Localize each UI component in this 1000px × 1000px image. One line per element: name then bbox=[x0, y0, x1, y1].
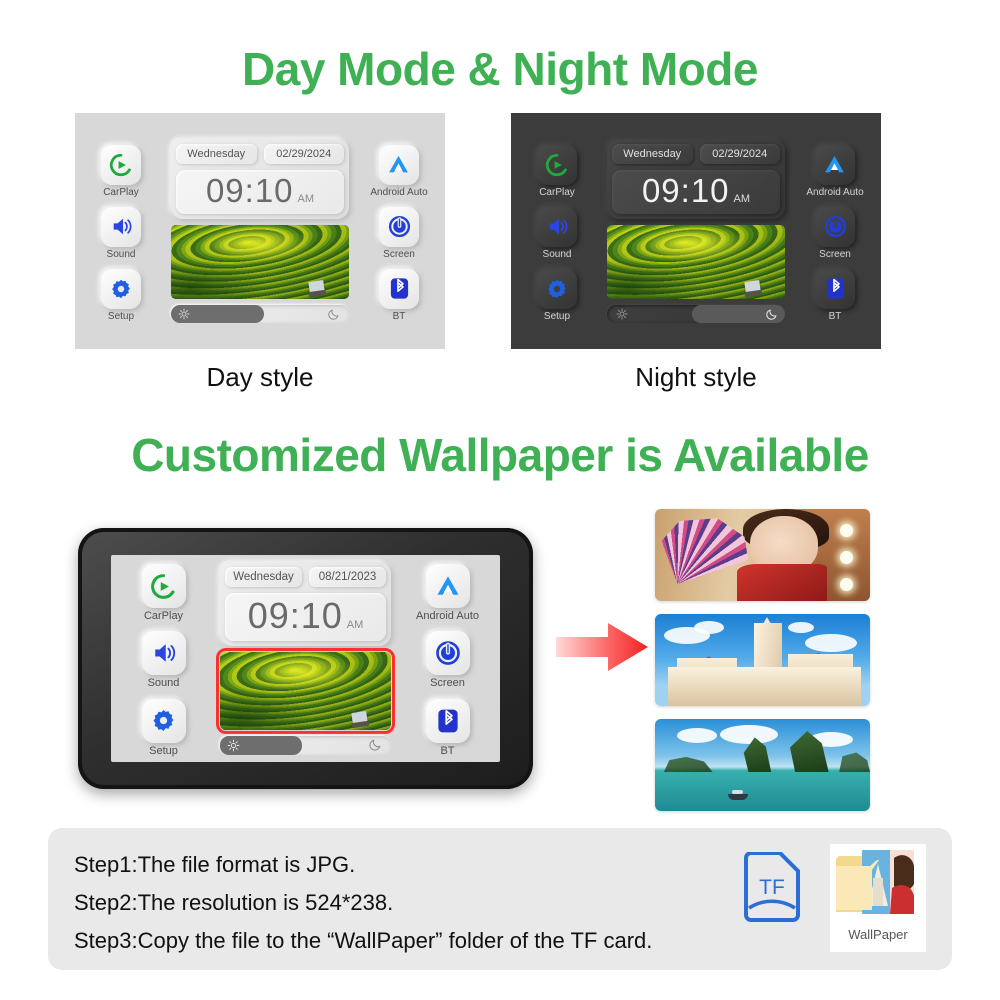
tf-card-icon: TF bbox=[742, 852, 802, 926]
day-mode-preview: CarPlay Sound bbox=[75, 113, 445, 349]
meridiem-device: AM bbox=[347, 619, 364, 631]
android-auto-button-night[interactable]: Android Auto bbox=[806, 145, 863, 198]
android-auto-label: Android Auto bbox=[370, 187, 427, 198]
carplay-label: CarPlay bbox=[103, 187, 139, 198]
carplay-icon bbox=[537, 145, 577, 185]
brightness-slider-night[interactable] bbox=[607, 305, 785, 323]
brightness-slider-device[interactable] bbox=[220, 736, 391, 755]
bt-button-day[interactable]: BT bbox=[379, 269, 419, 322]
center-column-day: Wednesday 02/29/2024 09:10 AM bbox=[167, 139, 353, 323]
setup-label: Setup bbox=[544, 311, 570, 322]
time-display-night: 09:10 bbox=[642, 172, 730, 210]
clock-panel-night: Wednesday 02/29/2024 09:10 AM bbox=[607, 139, 785, 219]
moon-icon bbox=[368, 738, 382, 752]
setup-label: Setup bbox=[108, 311, 134, 322]
bt-label: BT bbox=[440, 745, 454, 757]
setup-button-day[interactable]: Setup bbox=[101, 269, 141, 322]
head-unit-ui-device: CarPlay Sound bbox=[111, 555, 500, 762]
setup-button-device[interactable]: Setup bbox=[142, 699, 186, 757]
night-mode-preview: CarPlay Sound bbox=[511, 113, 881, 349]
wallpaper-thumbnail-list bbox=[655, 509, 870, 824]
bt-button-night[interactable]: BT bbox=[815, 269, 855, 322]
gear-icon bbox=[142, 699, 186, 743]
right-button-column-day: Android Auto Screen bbox=[353, 113, 445, 349]
speaker-icon bbox=[537, 207, 577, 247]
device-screen: CarPlay Sound bbox=[111, 555, 500, 762]
colonial-building-thumbnail[interactable] bbox=[655, 614, 870, 706]
sound-button-day[interactable]: Sound bbox=[101, 207, 141, 260]
screen-label: Screen bbox=[383, 249, 415, 260]
sun-end-night bbox=[616, 305, 628, 323]
right-arrow-icon bbox=[556, 621, 648, 673]
bluetooth-icon bbox=[815, 269, 855, 309]
halong-bay-thumbnail[interactable] bbox=[655, 719, 870, 811]
head-unit-ui-night: CarPlay Sound bbox=[511, 113, 881, 349]
carplay-label: CarPlay bbox=[539, 187, 575, 198]
center-column-device: Wednesday 08/21/2023 09:10 AM bbox=[216, 562, 395, 755]
carplay-button-day[interactable]: CarPlay bbox=[101, 145, 141, 198]
time-display-device: 09:10 bbox=[248, 595, 343, 637]
night-style-caption: Night style bbox=[511, 362, 881, 393]
right-button-column-night: Android Auto Screen bbox=[789, 113, 881, 349]
power-icon bbox=[426, 631, 470, 675]
head-unit-ui-day: CarPlay Sound bbox=[75, 113, 445, 349]
carplay-icon bbox=[101, 145, 141, 185]
woman-with-fan-thumbnail[interactable] bbox=[655, 509, 870, 601]
screen-label: Screen bbox=[430, 677, 465, 689]
setup-button-night[interactable]: Setup bbox=[537, 269, 577, 322]
product-infographic-page: Day Mode & Night Mode CarPlay bbox=[0, 0, 1000, 1000]
bluetooth-icon bbox=[379, 269, 419, 309]
sound-label: Sound bbox=[543, 249, 572, 260]
weekday-display-night: Wednesday bbox=[612, 144, 693, 164]
sun-icon bbox=[227, 739, 240, 752]
left-button-column-day: CarPlay Sound bbox=[75, 113, 167, 349]
carplay-icon bbox=[142, 564, 186, 608]
screen-label: Screen bbox=[819, 249, 851, 260]
gear-icon bbox=[101, 269, 141, 309]
bt-button-device[interactable]: BT bbox=[426, 699, 470, 757]
wallpaper-folder-icon[interactable]: WallPaper bbox=[830, 844, 926, 952]
day-style-caption: Day style bbox=[75, 362, 445, 393]
power-icon bbox=[815, 207, 855, 247]
screen-button-day[interactable]: Screen bbox=[379, 207, 419, 260]
setup-label: Setup bbox=[149, 745, 178, 757]
tf-card-label: TF bbox=[759, 876, 785, 899]
hut-detail bbox=[744, 280, 760, 293]
folder-label: WallPaper bbox=[848, 927, 907, 942]
slider-thumb-night[interactable] bbox=[692, 305, 785, 323]
bt-label: BT bbox=[829, 311, 842, 322]
sun-icon bbox=[616, 308, 628, 320]
screen-button-device[interactable]: Screen bbox=[426, 631, 470, 689]
car-head-unit-device: CarPlay Sound bbox=[78, 528, 533, 789]
meridiem-night: AM bbox=[734, 193, 751, 205]
page-title-day-night: Day Mode & Night Mode bbox=[0, 42, 1000, 96]
clock-panel-day: Wednesday 02/29/2024 09:10 AM bbox=[171, 139, 349, 219]
bluetooth-icon bbox=[426, 699, 470, 743]
sound-button-night[interactable]: Sound bbox=[537, 207, 577, 260]
right-button-column-device: Android Auto Screen bbox=[395, 555, 500, 762]
wallpaper-preview-selected[interactable] bbox=[220, 652, 391, 730]
slider-thumb-day[interactable] bbox=[171, 305, 264, 323]
meridiem-day: AM bbox=[298, 193, 315, 205]
left-button-column-device: CarPlay Sound bbox=[111, 555, 216, 762]
weekday-display-device: Wednesday bbox=[225, 567, 302, 587]
brightness-slider-day[interactable] bbox=[171, 305, 349, 323]
carplay-label: CarPlay bbox=[144, 610, 183, 622]
speaker-icon bbox=[142, 631, 186, 675]
sound-button-device[interactable]: Sound bbox=[142, 631, 186, 689]
left-button-column-night: CarPlay Sound bbox=[511, 113, 603, 349]
android-auto-icon bbox=[815, 145, 855, 185]
date-display-day: 02/29/2024 bbox=[264, 144, 345, 164]
date-display-device: 08/21/2023 bbox=[309, 567, 386, 587]
page-title-wallpaper: Customized Wallpaper is Available bbox=[0, 428, 1000, 482]
wallpaper-preview-day[interactable] bbox=[171, 225, 349, 299]
hut-detail bbox=[308, 280, 324, 293]
android-auto-button-device[interactable]: Android Auto bbox=[416, 564, 479, 622]
screen-button-night[interactable]: Screen bbox=[815, 207, 855, 260]
clock-panel-device: Wednesday 08/21/2023 09:10 AM bbox=[220, 562, 391, 646]
weekday-display-day: Wednesday bbox=[176, 144, 257, 164]
moon-end-day bbox=[327, 305, 340, 323]
gear-icon bbox=[537, 269, 577, 309]
android-auto-button-day[interactable]: Android Auto bbox=[370, 145, 427, 198]
wallpaper-preview-night[interactable] bbox=[607, 225, 785, 299]
speaker-icon bbox=[101, 207, 141, 247]
bt-label: BT bbox=[393, 311, 406, 322]
android-auto-label: Android Auto bbox=[416, 610, 479, 622]
sun-icon bbox=[178, 308, 190, 320]
android-auto-icon bbox=[426, 564, 470, 608]
sound-label: Sound bbox=[148, 677, 180, 689]
time-display-day: 09:10 bbox=[206, 172, 294, 210]
carplay-button-device[interactable]: CarPlay bbox=[142, 564, 186, 622]
slider-thumb-device[interactable] bbox=[220, 736, 302, 755]
hut-detail bbox=[351, 711, 367, 724]
moon-end-device bbox=[368, 736, 382, 754]
moon-icon bbox=[765, 308, 778, 321]
center-column-night: Wednesday 02/29/2024 09:10 AM bbox=[603, 139, 789, 323]
carplay-button-night[interactable]: CarPlay bbox=[537, 145, 577, 198]
moon-icon bbox=[327, 308, 340, 321]
android-auto-label: Android Auto bbox=[806, 187, 863, 198]
step-line-3: Step3:Copy the file to the “WallPaper” f… bbox=[74, 922, 926, 960]
power-icon bbox=[379, 207, 419, 247]
date-display-night: 02/29/2024 bbox=[700, 144, 781, 164]
instructions-box: Step1:The file format is JPG. Step2:The … bbox=[48, 828, 952, 970]
sound-label: Sound bbox=[107, 249, 136, 260]
android-auto-icon bbox=[379, 145, 419, 185]
